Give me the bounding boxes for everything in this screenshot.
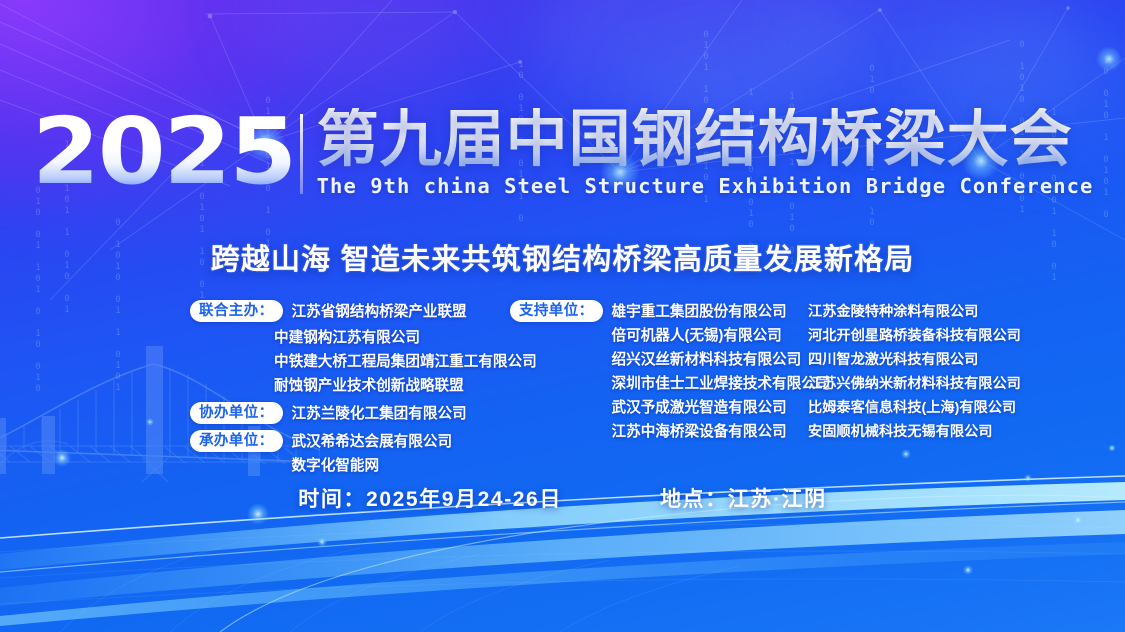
organizer-label-pill: 联合主办：	[190, 300, 283, 322]
organizer-group: 支持单位： 雄宇重工集团股份有限公司 倍可机器人(无锡)有限公司 绍兴汉丝新材料…	[510, 300, 800, 444]
conference-tagline: 跨越山海 智造未来共筑钢结构桥梁高质量发展新格局	[0, 236, 1125, 278]
event-location: 地点：江苏·江阴	[660, 483, 827, 513]
banner-footer: 时间：2025年9月24-26日 地点：江苏·江阴	[0, 483, 1125, 513]
cloud-texture	[790, 0, 1090, 120]
organizer-label-pill: 支持单位：	[510, 300, 603, 322]
organizers-section: 联合主办： 江苏省钢结构桥梁产业联盟 中建钢构江苏有限公司 中铁建大桥工程局集团…	[0, 300, 1125, 450]
glow-node	[1096, 46, 1122, 72]
conference-banner: 010 01 101 0 10 010 10 0101 1 010 01 0 1…	[0, 0, 1125, 632]
organizer-label-pill: 承办单位：	[190, 430, 283, 452]
title-block: 第九届中国钢结构桥梁大会 The 9th china Steel Structu…	[317, 108, 1094, 198]
banner-header: 2025 第九届中国钢结构桥梁大会 The 9th china Steel St…	[0, 108, 1125, 198]
event-date: 时间：2025年9月24-26日	[298, 483, 562, 513]
organizer-name: 江苏兴佛纳米新材料科技有限公司	[808, 372, 1108, 396]
conference-title-cn: 第九届中国钢结构桥梁大会	[317, 108, 1094, 171]
organizer-name: 数字化智能网	[292, 454, 453, 478]
organizer-label-pill: 协办单位：	[190, 402, 283, 424]
organizer-name: 深圳市佳士工业焊接技术有限公司	[612, 372, 831, 396]
organizer-name-list: 武汉希希达会展有限公司 数字化智能网	[292, 430, 453, 478]
organizer-name: 中建钢构江苏有限公司	[190, 326, 490, 350]
organizer-name: 四川智龙激光科技有限公司	[808, 348, 1108, 372]
organizer-name: 武汉希希达会展有限公司	[292, 430, 453, 454]
organizer-name: 比姆泰客信息科技(上海)有限公司	[808, 396, 1108, 420]
organizer-name: 江苏省钢结构桥梁产业联盟	[292, 300, 467, 324]
year-2025: 2025	[32, 108, 301, 196]
organizer-group: 协办单位： 江苏兰陵化工集团有限公司	[190, 402, 490, 426]
footer-inline: 时间：2025年9月24-26日 地点：江苏·江阴	[298, 483, 827, 513]
organizer-name-list: 雄宇重工集团股份有限公司 倍可机器人(无锡)有限公司 绍兴汉丝新材料科技有限公司…	[612, 300, 831, 444]
organizer-name: 中铁建大桥工程局集团靖江重工有限公司	[190, 350, 490, 374]
organizer-name: 江苏中海桥梁设备有限公司	[612, 420, 831, 444]
conference-title-en: The 9th china Steel Structure Exhibition…	[317, 174, 1094, 198]
organizer-name: 耐蚀钢产业技术创新战略联盟	[190, 374, 490, 398]
organizer-name: 江苏兰陵化工集团有限公司	[292, 402, 467, 426]
organizers-column-right: 江苏金陵特种涂料有限公司 河北开创星路桥装备科技有限公司 四川智龙激光科技有限公…	[808, 300, 1108, 444]
organizer-name: 倍可机器人(无锡)有限公司	[612, 324, 831, 348]
organizer-name: 江苏金陵特种涂料有限公司	[808, 300, 1108, 324]
title-row: 2025 第九届中国钢结构桥梁大会 The 9th china Steel St…	[32, 108, 1094, 198]
organizer-name-list: 江苏省钢结构桥梁产业联盟	[292, 300, 467, 324]
organizer-name: 武汉予成激光智造有限公司	[612, 396, 831, 420]
cloud-texture	[250, 0, 510, 90]
organizer-name: 雄宇重工集团股份有限公司	[612, 300, 831, 324]
organizer-name-list: 江苏金陵特种涂料有限公司 河北开创星路桥装备科技有限公司 四川智龙激光科技有限公…	[808, 300, 1108, 444]
organizer-name: 安固顺机械科技无锡有限公司	[808, 420, 1108, 444]
organizer-name-list: 江苏兰陵化工集团有限公司	[292, 402, 467, 426]
cloud-texture	[520, 0, 850, 120]
organizer-group: 承办单位： 武汉希希达会展有限公司 数字化智能网	[190, 430, 490, 478]
organizers-column-middle: 支持单位： 雄宇重工集团股份有限公司 倍可机器人(无锡)有限公司 绍兴汉丝新材料…	[510, 300, 800, 446]
organizer-name: 绍兴汉丝新材料科技有限公司	[612, 348, 831, 372]
organizers-column-left: 联合主办： 江苏省钢结构桥梁产业联盟 中建钢构江苏有限公司 中铁建大桥工程局集团…	[190, 300, 490, 480]
organizer-name: 河北开创星路桥装备科技有限公司	[808, 324, 1108, 348]
organizer-group: 联合主办： 江苏省钢结构桥梁产业联盟	[190, 300, 490, 324]
